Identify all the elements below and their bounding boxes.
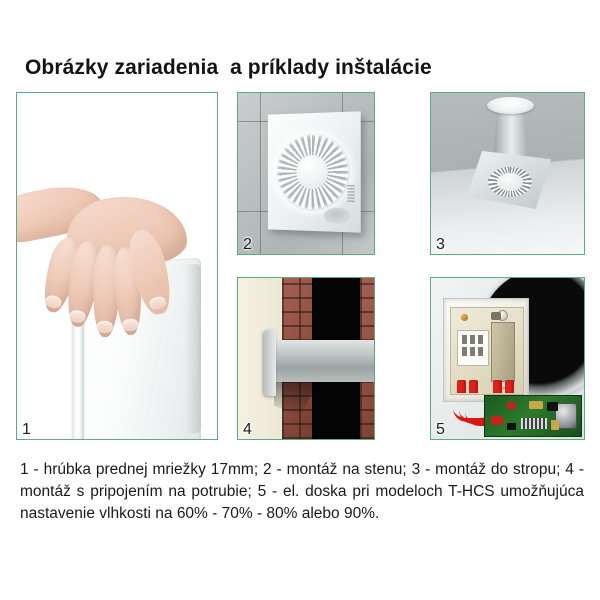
figure-2-illustration: [238, 93, 374, 254]
wall-fan-unit: [268, 111, 361, 232]
dip-switch-3[interactable]: [478, 335, 483, 344]
figure-panel-4: 4: [237, 277, 375, 440]
resistor-red-2: [507, 402, 516, 409]
panel-number-3: 3: [436, 237, 445, 253]
dip-switch-6[interactable]: [478, 347, 483, 356]
fingernail: [97, 321, 113, 334]
fingernail: [122, 318, 139, 331]
resistor-red: [491, 416, 503, 425]
indicator-led: [461, 314, 468, 321]
fingernail: [44, 294, 62, 310]
trimmer-pot: [551, 420, 559, 430]
panel-number-2: 2: [243, 237, 252, 253]
figure-caption: 1 - hrúbka prednej mriežky 17mm; 2 - mon…: [20, 459, 584, 525]
control-board: [450, 307, 524, 395]
tile-grout-vertical: [260, 93, 261, 254]
fan-grille-icon: [277, 134, 348, 210]
figure-3-illustration: [431, 93, 584, 254]
connector-block: [521, 418, 547, 429]
panel-number-5: 5: [436, 422, 445, 438]
dip-switch-5[interactable]: [470, 347, 475, 356]
duct-pipe: [272, 340, 375, 382]
relay-module: [491, 322, 515, 382]
figure-panel-1: 17 mm 1: [16, 92, 218, 440]
panel-number-4: 4: [243, 422, 252, 438]
figure-panel-5: 5: [430, 277, 585, 440]
dip-switch-4[interactable]: [462, 347, 467, 356]
humidity-dip-switches[interactable]: [457, 330, 489, 366]
humidity-sensor-pcb: [484, 395, 582, 437]
duct-flange-left: [264, 330, 276, 396]
transformer: [529, 401, 543, 409]
figure-1-illustration: 17 mm: [17, 93, 217, 439]
brand-logo: [324, 207, 350, 224]
capacitor: [491, 312, 501, 320]
figure-panel-2: 2: [237, 92, 375, 255]
dip-switch-2[interactable]: [470, 335, 475, 344]
dip-switch-1[interactable]: [462, 335, 467, 344]
figure-5-illustration: [431, 278, 584, 439]
fan-grille-icon: [488, 167, 532, 197]
side-vent: [347, 185, 354, 201]
ic-chip: [547, 402, 558, 411]
figure-4-illustration: [238, 278, 374, 439]
fingernail: [69, 309, 87, 323]
board-recess: [443, 298, 529, 402]
duct-collar: [487, 97, 534, 114]
panel-number-1: 1: [22, 422, 31, 438]
figure-panel-3: 3: [430, 92, 585, 255]
diode: [507, 423, 516, 430]
page-title: Obrázky zariadenia a príklady inštalácie: [25, 56, 432, 80]
thumbnail: [149, 295, 167, 311]
hand-illustration: [16, 189, 217, 319]
